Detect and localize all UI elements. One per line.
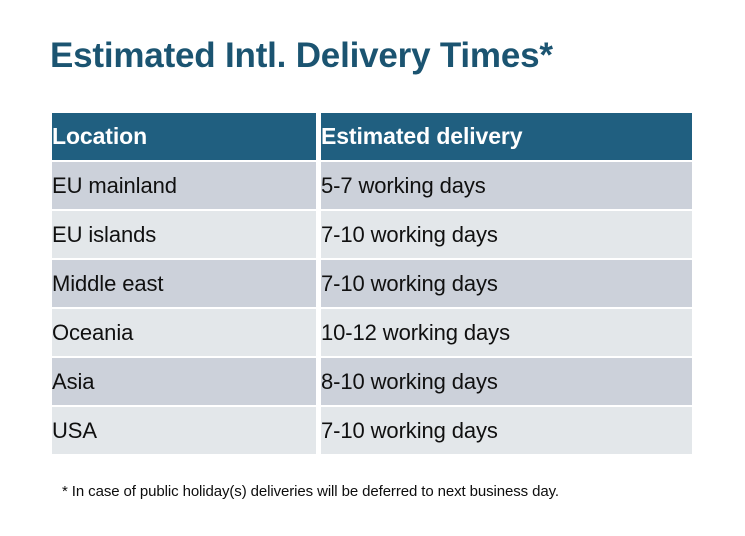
- cell-estimated-delivery: 7-10 working days: [321, 260, 692, 307]
- table-header-row: Location Estimated delivery: [52, 113, 692, 160]
- cell-location: EU islands: [52, 211, 316, 258]
- table-row: Oceania 10-12 working days: [52, 309, 692, 356]
- cell-estimated-delivery: 7-10 working days: [321, 407, 692, 454]
- page-title: Estimated Intl. Delivery Times*: [50, 34, 553, 78]
- cell-estimated-delivery: 8-10 working days: [321, 358, 692, 405]
- estimated-delivery-table: Location Estimated delivery EU mainland …: [52, 113, 692, 454]
- table-row: Asia 8-10 working days: [52, 358, 692, 405]
- cell-location: USA: [52, 407, 316, 454]
- column-header-estimated-delivery: Estimated delivery: [321, 113, 692, 160]
- cell-location: Asia: [52, 358, 316, 405]
- cell-location: Middle east: [52, 260, 316, 307]
- table-row: USA 7-10 working days: [52, 407, 692, 454]
- delivery-times-card: Estimated Intl. Delivery Times* Location…: [0, 0, 745, 536]
- cell-location: EU mainland: [52, 162, 316, 209]
- table-row: EU mainland 5-7 working days: [52, 162, 692, 209]
- table-row: Middle east 7-10 working days: [52, 260, 692, 307]
- cell-estimated-delivery: 5-7 working days: [321, 162, 692, 209]
- cell-location: Oceania: [52, 309, 316, 356]
- footnote: * In case of public holiday(s) deliverie…: [62, 482, 559, 502]
- table-row: EU islands 7-10 working days: [52, 211, 692, 258]
- column-header-location: Location: [52, 113, 316, 160]
- cell-estimated-delivery: 7-10 working days: [321, 211, 692, 258]
- cell-estimated-delivery: 10-12 working days: [321, 309, 692, 356]
